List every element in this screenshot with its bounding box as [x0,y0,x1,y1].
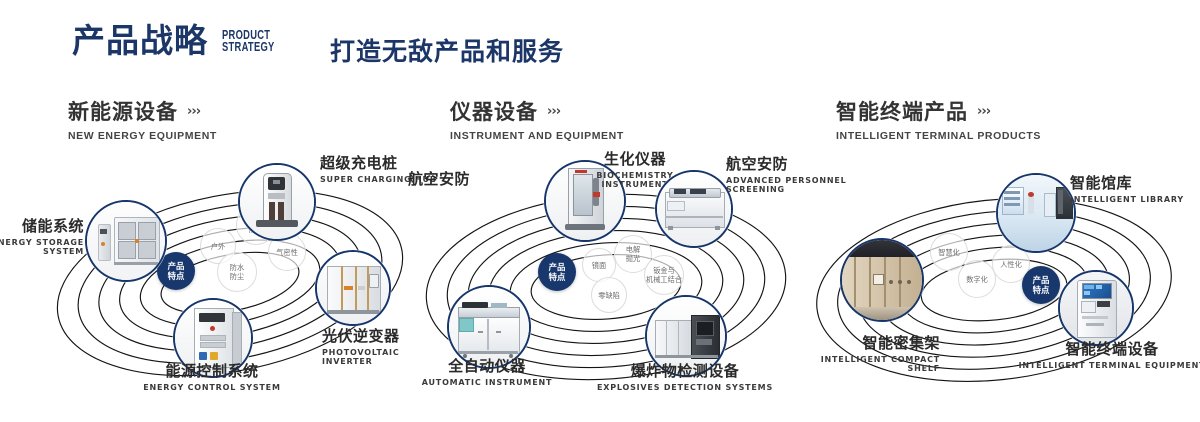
center-bubble-product-features: 产品 特点 [538,253,576,291]
section-title-new-energy: 新能源设备 ››› NEW ENERGY EQUIPMENT [68,96,217,142]
caption-en: INTELLIGENT LIBRARY [1070,195,1200,204]
caption-cn: 能源控制系统 [87,360,337,381]
caption-intelligent-library: 智能馆库 INTELLIGENT LIBRARY [1070,172,1200,204]
cluster-instrument: 产品 特点 镜面 电解 抛光 钣金与 机械工结合 零缺陷 生化仪器 BIOCHE… [410,155,810,405]
terminal-kiosk-icon [1060,272,1132,344]
caption-en: EXPLOSIVES DETECTION SYSTEMS [590,383,780,392]
feature-bubble: 钣金与 机械工结合 [644,255,684,295]
caption-en: INTELLIGENT TERMINAL EQUIPMENT [1012,361,1200,370]
caption-cn: 全自动仪器 [402,355,572,376]
section-title-intelligent: 智能终端产品 ››› INTELLIGENT TERMINAL PRODUCTS [836,96,1041,142]
caption-energy-control: 能源控制系统 ENERGY CONTROL SYSTEM [87,360,337,392]
section-label-en: INTELLIGENT TERMINAL PRODUCTS [836,130,1041,142]
section-title-instrument: 仪器设备 ››› INSTRUMENT AND EQUIPMENT [450,96,624,142]
caption-en: ENERGY STORAGE SYSTEM [0,238,84,256]
node-advanced-screening[interactable] [655,170,733,248]
caption-automatic-instrument: 全自动仪器 AUTOMATIC INSTRUMENT [402,355,572,387]
caption-cn: 航空安防 [360,168,470,189]
caption-compact-shelf: 智能密集架 INTELLIGENT COMPACT SHELF [755,332,940,373]
feature-bubble: 零缺陷 [591,277,627,313]
caption-cn: 智能终端设备 [1012,338,1200,359]
node-compact-shelf[interactable] [840,238,924,322]
node-pv-inverter[interactable] [315,250,391,326]
section-label-cn: 智能终端产品 [836,96,968,126]
node-charging-pile[interactable] [238,163,316,241]
caption-energy-storage: 储能系统 ENERGY STORAGE SYSTEM [0,215,84,256]
page-title: 产品战略 [72,24,208,57]
caption-en: INTELLIGENT COMPACT SHELF [755,355,940,373]
node-terminal-equipment[interactable] [1058,270,1134,346]
chevron-right-icon: ››› [187,104,200,119]
feature-bubble: 数字化 [958,260,996,298]
caption-cn: 储能系统 [0,215,84,236]
screening-machine-icon [657,172,731,246]
cluster-intelligent-terminal: 智慧化 数字化 人性化 产品 特点 智能馆库 INTELLIGENT LIBRA… [800,160,1200,410]
poster-canvas: 产品战略 PRODUCT STRATEGY 打造无敌产品和服务 新能源设备 ››… [0,0,1200,422]
section-label-en: NEW ENERGY EQUIPMENT [68,130,217,142]
node-energy-storage[interactable] [85,200,167,282]
section-label-cn: 仪器设备 [450,96,538,126]
intelligent-library-icon [998,175,1074,251]
chevron-right-icon: ››› [977,104,990,119]
caption-terminal-equipment: 智能终端设备 INTELLIGENT TERMINAL EQUIPMENT [1012,338,1200,370]
cluster-new-energy: 产品 特点 户外 防腐 防锈 防水 防尘 气密性 储能系统 ENERGY STO… [30,155,430,405]
chevron-right-icon: ››› [547,104,560,119]
caption-en: AUTOMATIC INSTRUMENT [402,378,572,387]
compact-shelf-icon [842,240,922,320]
caption-explosives-detection: 爆炸物检测设备 EXPLOSIVES DETECTION SYSTEMS [590,360,780,392]
caption-aviation-security: 航空安防 [360,168,470,189]
charging-pile-icon [240,165,314,239]
center-bubble-product-features: 产品 特点 [1022,266,1060,304]
page-subtitle: 打造无敌产品和服务 [330,32,564,68]
section-label-cn: 新能源设备 [68,96,178,126]
pv-inverter-cabinet-icon [317,252,389,324]
caption-cn: 生化仪器 [570,148,700,169]
caption-cn: 智能馆库 [1070,172,1200,193]
caption-cn: 智能密集架 [755,332,940,353]
energy-storage-cabinet-icon [87,202,165,280]
page-header: 产品战略 PRODUCT STRATEGY [72,24,372,57]
node-intelligent-library[interactable] [996,173,1076,253]
caption-en: ENERGY CONTROL SYSTEM [87,383,337,392]
page-title-en: PRODUCT STRATEGY [222,29,330,57]
caption-cn: 爆炸物检测设备 [590,360,780,381]
feature-bubble: 防水 防尘 [217,252,257,292]
section-label-en: INSTRUMENT AND EQUIPMENT [450,130,624,142]
